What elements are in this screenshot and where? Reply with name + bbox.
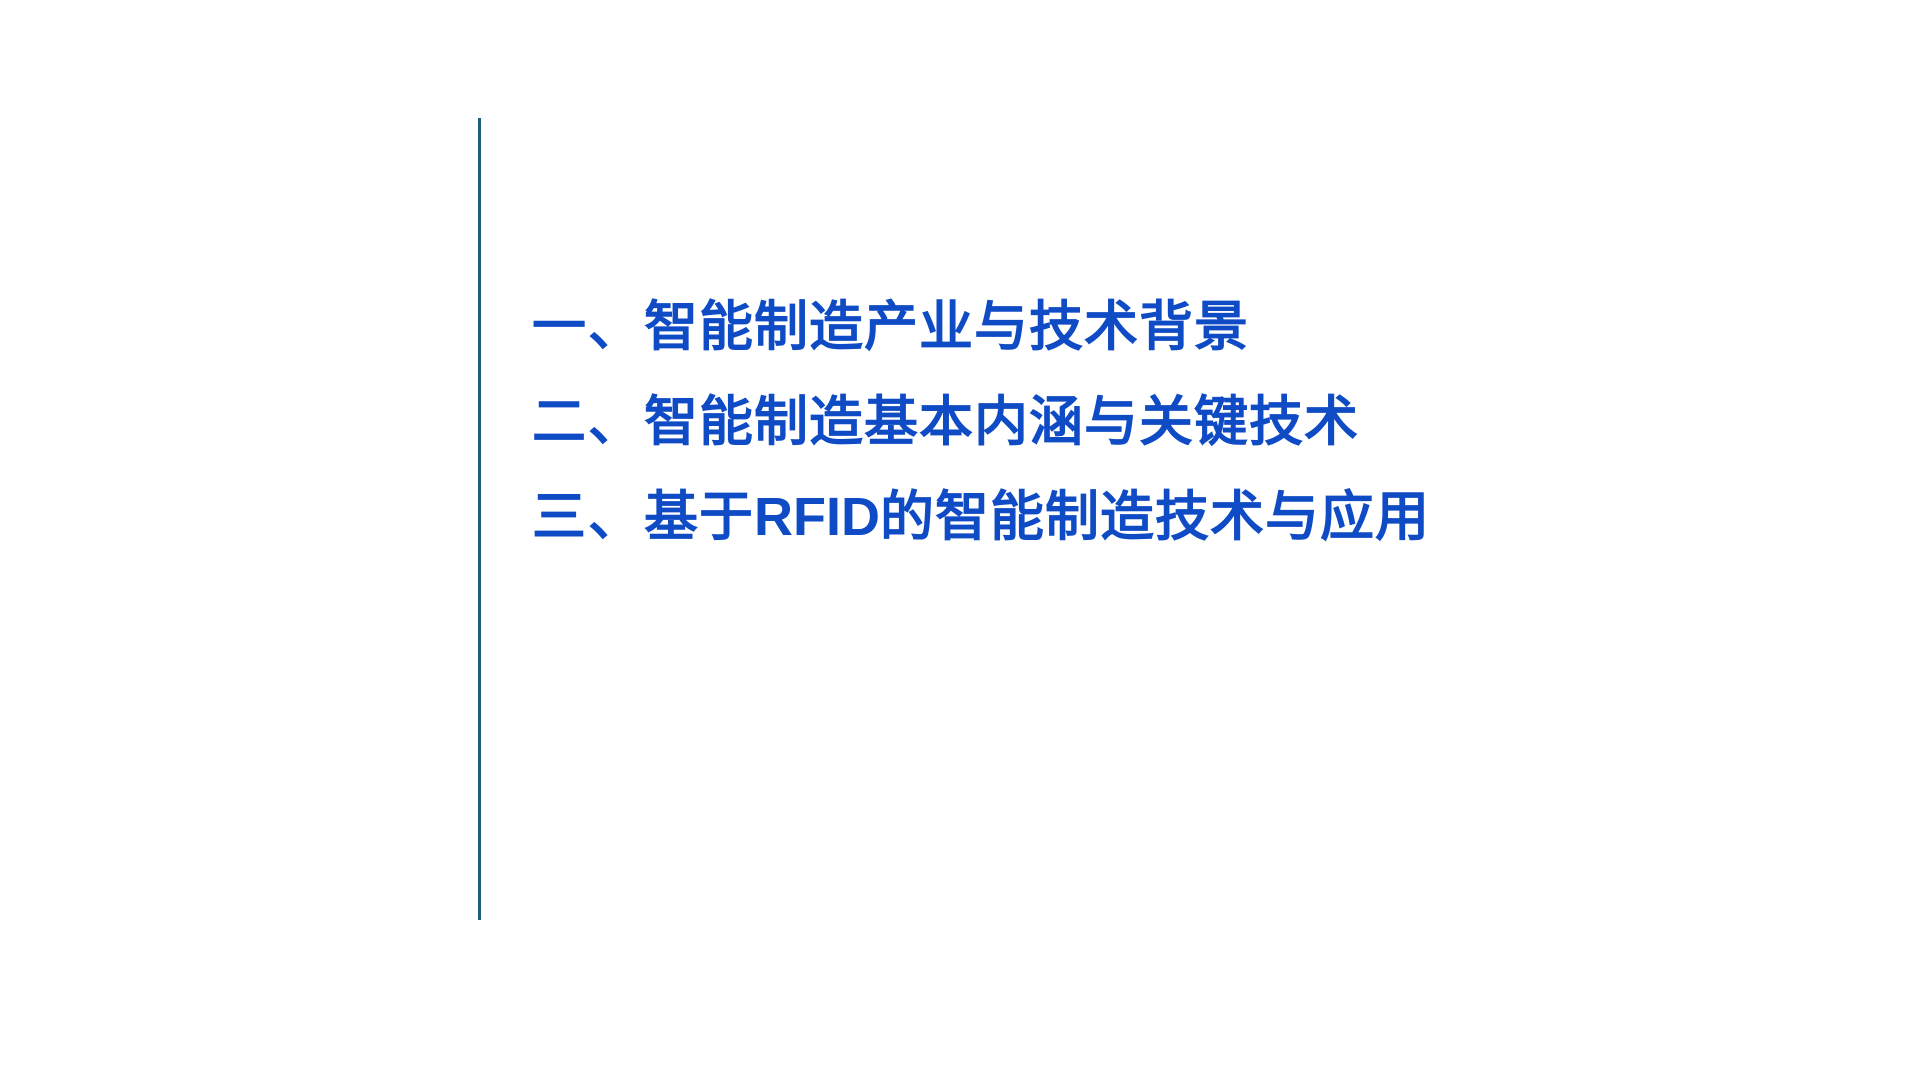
agenda-item-2-label: 智能制造基本内涵与关键技术 <box>644 392 1359 452</box>
agenda-item-3-label-before: 基于 <box>644 487 754 547</box>
agenda-item-3-label-after: 的智能制造技术与应用 <box>880 487 1430 547</box>
agenda-item-2[interactable]: 二、智能制造基本内涵与关键技术 <box>532 395 1852 449</box>
agenda-item-3-acronym: RFID <box>754 487 880 547</box>
slide-canvas: 一、智能制造产业与技术背景 二、智能制造基本内涵与关键技术 三、基于RFID的智… <box>0 0 1920 1080</box>
agenda-item-1-marker: 一、 <box>532 297 644 357</box>
agenda-item-3[interactable]: 三、基于RFID的智能制造技术与应用 <box>532 490 1852 544</box>
agenda-list: 一、智能制造产业与技术背景 二、智能制造基本内涵与关键技术 三、基于RFID的智… <box>532 300 1852 544</box>
vertical-accent-rule <box>478 118 481 920</box>
agenda-item-1[interactable]: 一、智能制造产业与技术背景 <box>532 300 1852 354</box>
agenda-item-1-label: 智能制造产业与技术背景 <box>644 297 1249 357</box>
agenda-item-2-marker: 二、 <box>532 392 644 452</box>
agenda-item-3-marker: 三、 <box>532 487 644 547</box>
